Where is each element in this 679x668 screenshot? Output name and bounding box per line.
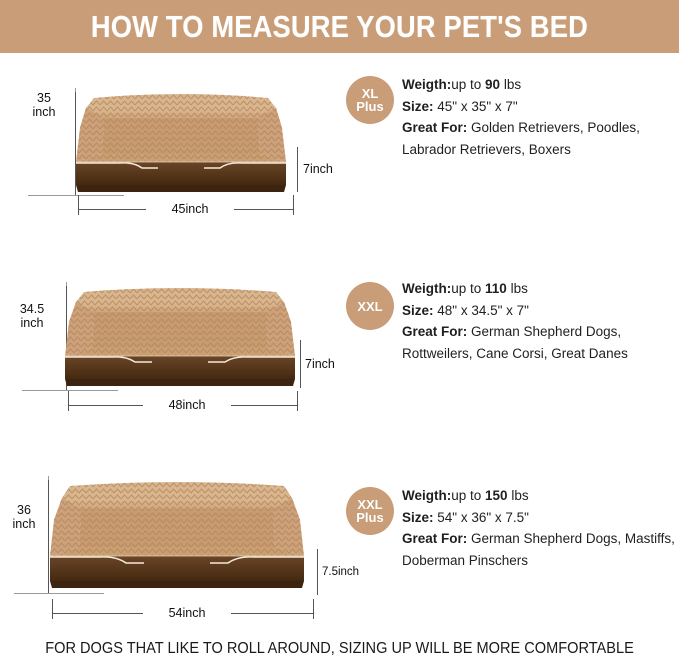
- dimension-width-label: 45inch: [146, 202, 234, 216]
- spec-size: Size: 48" x 34.5" x 7": [402, 300, 679, 322]
- spec-great-for: Great For: Golden Retrievers, Poodles, L…: [402, 117, 679, 160]
- header-banner: HOW TO MEASURE YOUR PET'S BED: [0, 0, 679, 53]
- page-title: HOW TO MEASURE YOUR PET'S BED: [91, 9, 588, 45]
- dimension-height-line: [317, 549, 318, 595]
- spec-weight-label: Weigth:: [402, 488, 451, 503]
- dimension-width-tick-right: [297, 391, 298, 411]
- product-info-xl-plus: XL Plus Weigth:up to 90 lbs Size: 45" x …: [336, 62, 679, 242]
- bed-illustration-xxl: [60, 282, 300, 392]
- bed-svg: [60, 282, 300, 392]
- spec-great-label: Great For:: [402, 120, 467, 135]
- bed-figure-xxl: 34.5 inch: [0, 262, 332, 442]
- badge-line-2: Plus: [356, 511, 383, 524]
- spec-size-label: Size:: [402, 303, 434, 318]
- dimension-height-line: [300, 340, 301, 388]
- dimension-height-line: [297, 147, 298, 192]
- product-section-xxl: 34.5 inch: [0, 262, 679, 442]
- dimension-width-tick-left: [68, 391, 69, 411]
- spec-size: Size: 54" x 36" x 7.5": [402, 507, 679, 529]
- dimension-width-tick-left: [52, 599, 53, 619]
- product-info-xxl: XXL Weigth:up to 110 lbs Size: 48" x 34.…: [336, 262, 679, 442]
- product-section-xxl-plus: 36 inch: [0, 465, 679, 650]
- spec-weight: Weigth:up to 90 lbs: [402, 74, 679, 96]
- dimension-width-tick-right: [293, 195, 294, 215]
- product-info-xxl-plus: XXL Plus Weigth:up to 150 lbs Size: 54" …: [336, 465, 679, 650]
- spec-weight-value: 110: [485, 281, 507, 296]
- dimension-depth-label: 35 inch: [24, 91, 64, 119]
- spec-great-label: Great For:: [402, 531, 467, 546]
- dimension-width-label: 48inch: [143, 398, 231, 412]
- dimension-width-tick-right: [313, 599, 314, 619]
- bed-figure-xl-plus: 35 inch: [0, 62, 332, 242]
- bed-svg: [72, 88, 290, 198]
- spec-great-for: Great For: German Shepherd Dogs, Mastiff…: [402, 528, 679, 571]
- spec-weight-label: Weigth:: [402, 77, 451, 92]
- spec-weight-label: Weigth:: [402, 281, 451, 296]
- spec-weight-unit: lbs: [508, 488, 529, 503]
- product-section-xl-plus: 35 inch: [0, 62, 679, 242]
- size-badge-xxl: XXL: [346, 282, 394, 330]
- bed-figure-xxl-plus: 36 inch: [0, 465, 332, 650]
- dimension-depth-label: 36 inch: [2, 503, 46, 531]
- spec-weight-prefix: up to: [451, 77, 485, 92]
- bed-illustration-xl-plus: [72, 88, 290, 198]
- spec-weight-prefix: up to: [451, 281, 485, 296]
- spec-list-xxl: Weigth:up to 110 lbs Size: 48" x 34.5" x…: [402, 278, 679, 364]
- bed-svg: [44, 476, 310, 594]
- size-badge-xxl-plus: XXL Plus: [346, 487, 394, 535]
- spec-size-value: 54" x 36" x 7.5": [434, 510, 529, 525]
- spec-weight: Weigth:up to 110 lbs: [402, 278, 679, 300]
- spec-weight-prefix: up to: [451, 488, 485, 503]
- spec-great-for: Great For: German Shepherd Dogs, Rottwei…: [402, 321, 679, 364]
- dimension-width-tick-left: [78, 195, 79, 215]
- spec-list-xl-plus: Weigth:up to 90 lbs Size: 45" x 35" x 7"…: [402, 74, 679, 160]
- dimension-depth-label: 34.5 inch: [6, 302, 58, 330]
- spec-great-label: Great For:: [402, 324, 467, 339]
- bed-illustration-xxl-plus: [44, 476, 310, 594]
- spec-weight-value: 150: [485, 488, 508, 503]
- spec-weight-unit: lbs: [507, 281, 528, 296]
- spec-size-label: Size:: [402, 99, 434, 114]
- spec-list-xxl-plus: Weigth:up to 150 lbs Size: 54" x 36" x 7…: [402, 485, 679, 571]
- badge-line-1: XXL: [357, 300, 382, 313]
- size-badge-xl-plus: XL Plus: [346, 76, 394, 124]
- spec-weight-value: 90: [485, 77, 500, 92]
- dimension-width-label: 54inch: [143, 606, 231, 620]
- footer-note: FOR DOGS THAT LIKE TO ROLL AROUND, SIZIN…: [20, 640, 658, 658]
- spec-weight: Weigth:up to 150 lbs: [402, 485, 679, 507]
- spec-weight-unit: lbs: [500, 77, 521, 92]
- spec-size-value: 45" x 35" x 7": [434, 99, 518, 114]
- badge-line-2: Plus: [356, 100, 383, 113]
- spec-size-value: 48" x 34.5" x 7": [434, 303, 529, 318]
- spec-size-label: Size:: [402, 510, 434, 525]
- spec-size: Size: 45" x 35" x 7": [402, 96, 679, 118]
